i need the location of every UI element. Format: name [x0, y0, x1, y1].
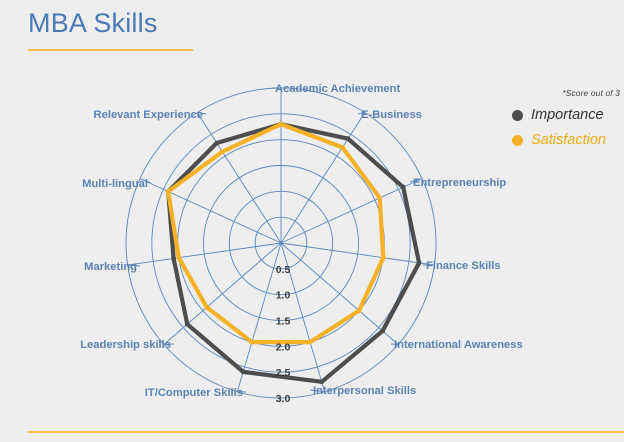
series-data-point[interactable] [220, 149, 225, 154]
legend-score-note: *Score out of 3 [512, 88, 624, 98]
series-data-point[interactable] [340, 145, 345, 150]
category-label-4: International Awareness [394, 339, 523, 351]
radial-tick-label: 2.5 [276, 367, 291, 379]
series-data-point[interactable] [171, 256, 176, 261]
radial-tick-label: 3.0 [276, 393, 291, 405]
series-data-point[interactable] [319, 379, 324, 384]
title-block: MBA Skills [28, 6, 158, 40]
radar-axis-spoke [237, 243, 281, 392]
title-underline-rule [28, 49, 193, 51]
series-data-point[interactable] [241, 369, 246, 374]
series-data-point[interactable] [166, 189, 171, 194]
category-label-6: IT/Computer Skills [145, 387, 243, 399]
category-label-2: Entrepreneurship [413, 177, 506, 189]
series-data-point[interactable] [308, 340, 313, 345]
series-data-point[interactable] [380, 329, 385, 334]
category-label-10: Relevant Experience [94, 109, 203, 121]
radial-tick-label: 1.0 [276, 290, 291, 302]
page-title: MBA Skills [28, 6, 158, 40]
series-data-point[interactable] [204, 305, 209, 310]
category-label-7: Leadership skills [80, 339, 171, 351]
legend-label-importance: Importance [531, 107, 604, 123]
category-label-3: Finance Skills [426, 260, 501, 272]
radar-axis-spoke [281, 243, 398, 345]
legend-item-satisfaction[interactable]: Satisfaction [512, 132, 624, 148]
category-label-9: Multi-lingual [82, 178, 148, 190]
radar-chart[interactable]: 0.51.01.52.02.53.0 Academic AchievementE… [0, 60, 520, 442]
radial-tick-labels: 0.51.01.52.02.53.0 [276, 264, 291, 405]
radial-tick-label: 0.5 [276, 264, 291, 276]
legend-label-satisfaction: Satisfaction [531, 132, 606, 148]
chart-legend: *Score out of 3 Importance Satisfaction [512, 88, 624, 148]
slide-canvas: MBA Skills *Score out of 3 Importance Sa… [0, 0, 624, 442]
legend-item-importance[interactable]: Importance [512, 107, 624, 123]
series-data-point[interactable] [401, 185, 406, 190]
series-data-point[interactable] [176, 255, 181, 260]
radial-tick-label: 2.0 [276, 341, 291, 353]
series-data-point[interactable] [417, 260, 422, 265]
category-label-1: E-Business [361, 109, 422, 121]
series-satisfaction-path[interactable] [166, 122, 386, 345]
series-data-point[interactable] [249, 340, 254, 345]
category-label-0: Academic Achievement [275, 83, 400, 95]
series-data-point[interactable] [185, 322, 190, 327]
category-label-5: Interpersonal Skills [313, 385, 416, 397]
radar-chart-svg: 0.51.01.52.02.53.0 Academic AchievementE… [0, 60, 520, 442]
series-data-point[interactable] [214, 141, 219, 146]
series-data-point[interactable] [377, 196, 382, 201]
series-data-point[interactable] [357, 308, 362, 313]
radial-tick-label: 1.5 [276, 316, 291, 328]
series-data-point[interactable] [346, 136, 351, 141]
series-data-point[interactable] [279, 122, 284, 127]
series-data-point[interactable] [381, 255, 386, 260]
category-label-8: Marketing [84, 261, 137, 273]
